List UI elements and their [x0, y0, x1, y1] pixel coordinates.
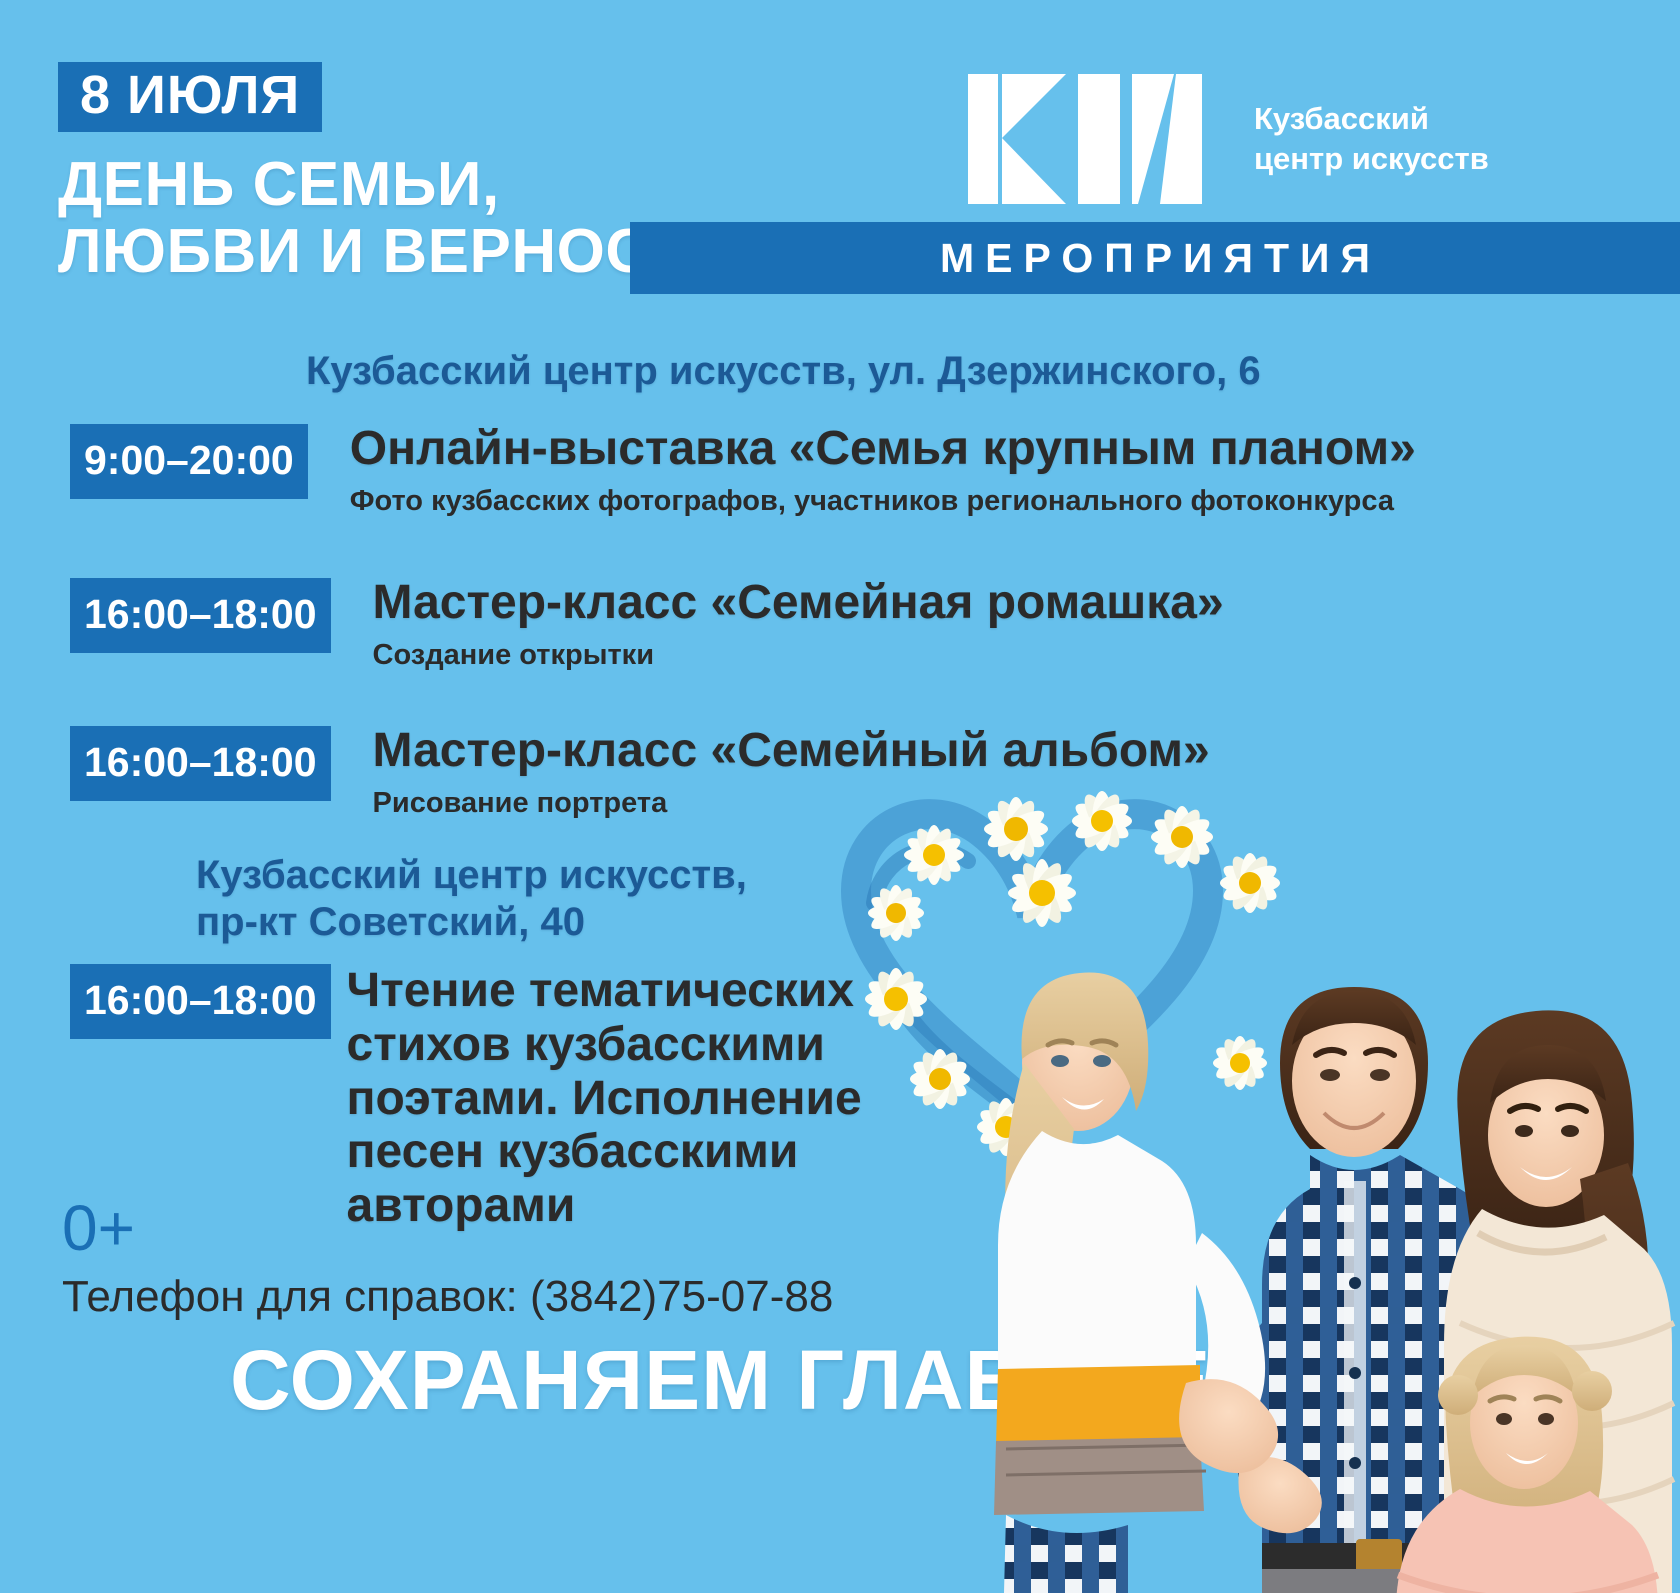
- date-badge: 8 ИЮЛЯ: [58, 62, 322, 132]
- contact-phone: Телефон для справок: (3842)75-07-88: [62, 1272, 833, 1322]
- poster-canvas: 8 ИЮЛЯ ДЕНЬ СЕМЬИ, ЛЮБВИ И ВЕРНОСТИ Кузб…: [0, 0, 1680, 1593]
- event-time-badge: 16:00–18:00: [70, 964, 331, 1039]
- logo: Кузбасский центр искусств: [962, 74, 1489, 204]
- event-body: Мастер-класс «Семейный альбом» Рисование…: [331, 726, 1210, 820]
- schedule-row: 16:00–18:00 Мастер-класс «Семейная ромаш…: [70, 578, 1224, 672]
- headline-line-1: ДЕНЬ СЕМЬИ,: [58, 150, 500, 219]
- schedule-row: 9:00–20:00 Онлайн-выставка «Семья крупны…: [70, 424, 1416, 518]
- event-subtitle: Создание открытки: [373, 639, 1224, 672]
- father-figure: [1232, 987, 1513, 1593]
- event-title: Мастер-класс «Семейный альбом»: [373, 726, 1210, 777]
- event-subtitle: Фото кузбасских фотографов, участников р…: [350, 485, 1416, 518]
- event-body: Мастер-класс «Семейная ромашка» Создание…: [331, 578, 1224, 672]
- family-photo: [994, 973, 1674, 1593]
- slogan: СОХРАНЯЕМ ГЛАВНОЕ: [230, 1338, 1211, 1422]
- event-subtitle: Рисование портрета: [373, 787, 1210, 820]
- event-time-badge: 9:00–20:00: [70, 424, 308, 499]
- older-daughter-figure: [994, 973, 1278, 1593]
- venue-address-2-line-1: Кузбасский центр искусств,: [196, 852, 747, 899]
- event-title: Мастер-класс «Семейная ромашка»: [373, 578, 1224, 629]
- age-rating-badge: 0+: [62, 1196, 135, 1260]
- logo-text: Кузбасский центр искусств: [1254, 99, 1489, 178]
- schedule-row: 16:00–18:00 Чтение тематических стихов к…: [70, 964, 957, 1233]
- event-body: Онлайн-выставка «Семья крупным планом» Ф…: [308, 424, 1416, 518]
- logo-text-line-2: центр искусств: [1254, 139, 1489, 179]
- event-body: Чтение тематических стихов кузбасскими п…: [331, 964, 957, 1233]
- venue-address-2-line-2: пр-кт Советский, 40: [196, 899, 747, 946]
- kci-logo-icon: [962, 74, 1208, 204]
- younger-daughter-figure: [1396, 1337, 1658, 1593]
- schedule-row: 16:00–18:00 Мастер-класс «Семейный альбо…: [70, 726, 1210, 820]
- event-title: Онлайн-выставка «Семья крупным планом»: [350, 424, 1416, 475]
- logo-text-line-1: Кузбасский: [1254, 99, 1489, 139]
- event-title: Чтение тематических стихов кузбасскими п…: [347, 964, 957, 1233]
- event-time-badge: 16:00–18:00: [70, 578, 331, 653]
- events-banner: МЕРОПРИЯТИЯ: [630, 222, 1680, 294]
- venue-address-2: Кузбасский центр искусств, пр-кт Советск…: [196, 852, 747, 946]
- events-banner-label: МЕРОПРИЯТИЯ: [929, 235, 1381, 282]
- event-time-badge: 16:00–18:00: [70, 726, 331, 801]
- mother-figure: [1444, 1010, 1674, 1593]
- venue-address-1: Кузбасский центр искусств, ул. Дзержинск…: [306, 348, 1261, 395]
